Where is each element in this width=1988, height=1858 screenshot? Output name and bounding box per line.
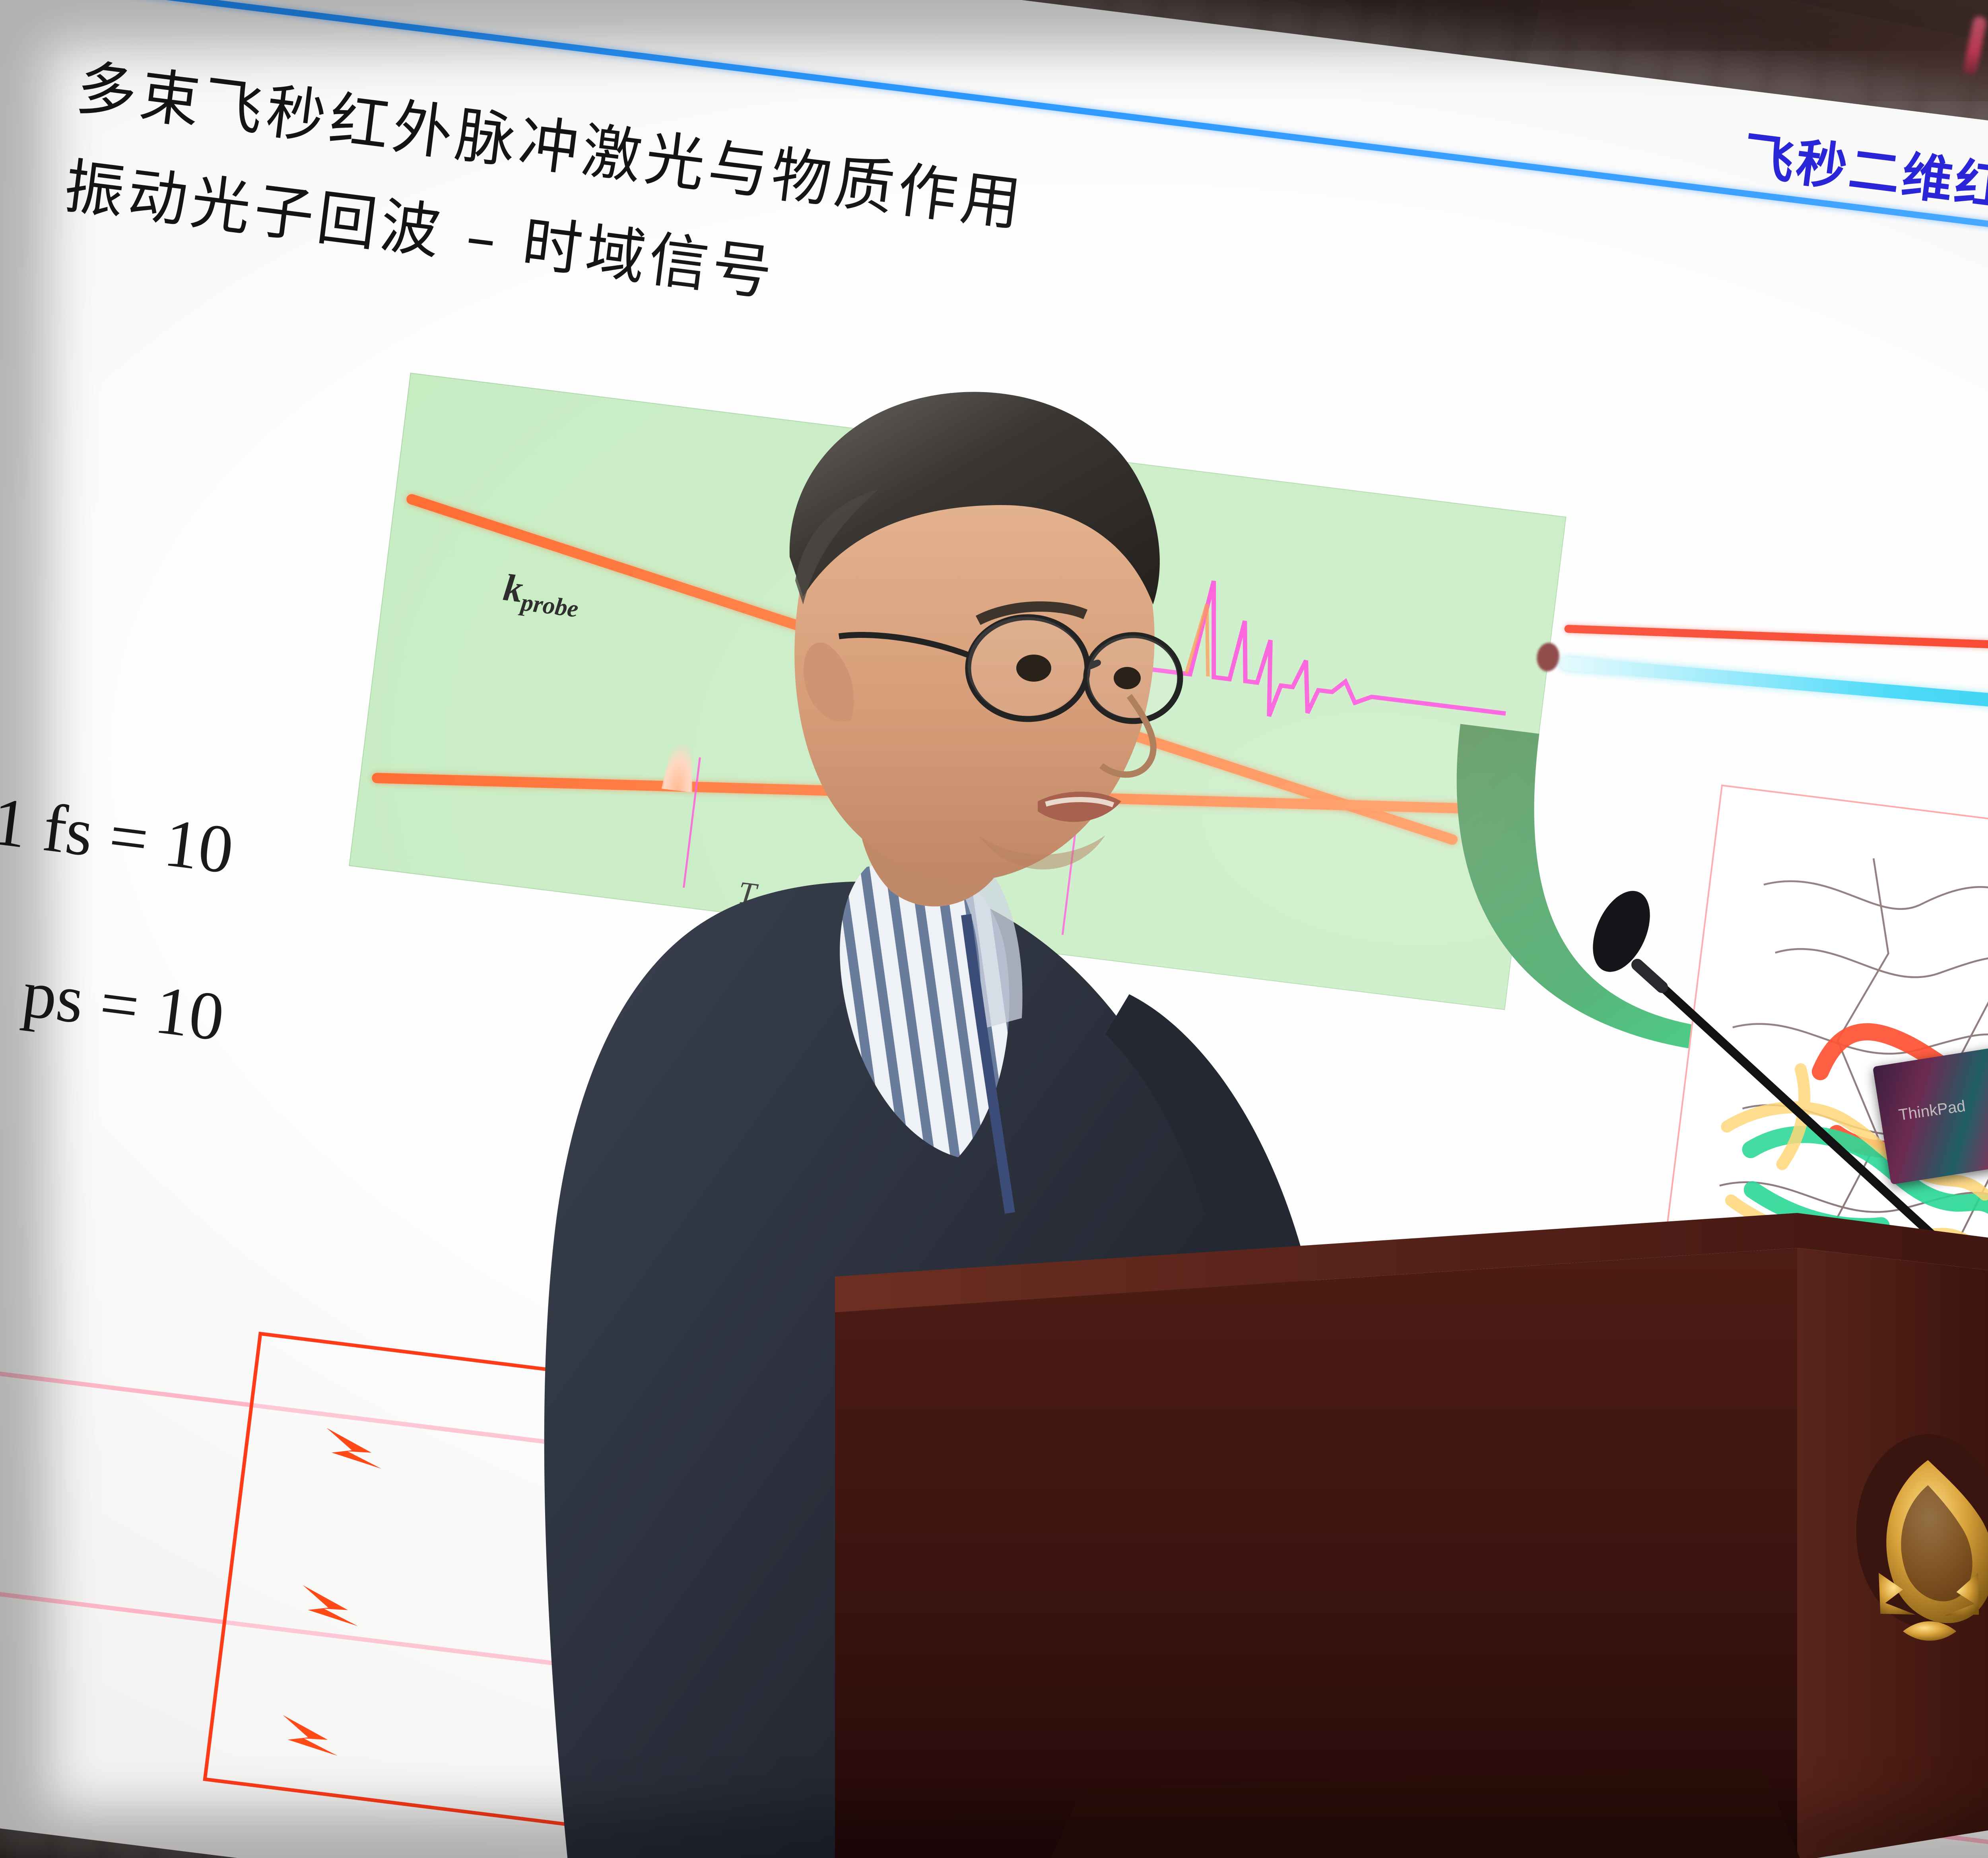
eye-far [1114, 667, 1141, 689]
eye [1016, 655, 1051, 682]
bullet-arrow-icon [297, 1581, 394, 1644]
laptop-brand-label: ThinkPad [1898, 1097, 1967, 1124]
bullet-arrow-icon [277, 1711, 374, 1773]
unit-note-ps: (1 ps = 10 [0, 945, 228, 1057]
podium-cables [1964, 1479, 1988, 1858]
presentation-photo: 多束飞秒红外脉冲激光与物质作用 振动光子回波 – 时域信号 飞秒二维红外(2D … [0, 0, 1988, 1858]
bullet-arrow-icon [321, 1424, 418, 1487]
slide-header-right: 飞秒二维红外(2D IR)光谱 [1739, 115, 1988, 267]
podium [835, 1145, 1988, 1858]
podium-front-panel [835, 1248, 1797, 1858]
unit-note-fs: (1 fs = 10 [0, 779, 238, 890]
